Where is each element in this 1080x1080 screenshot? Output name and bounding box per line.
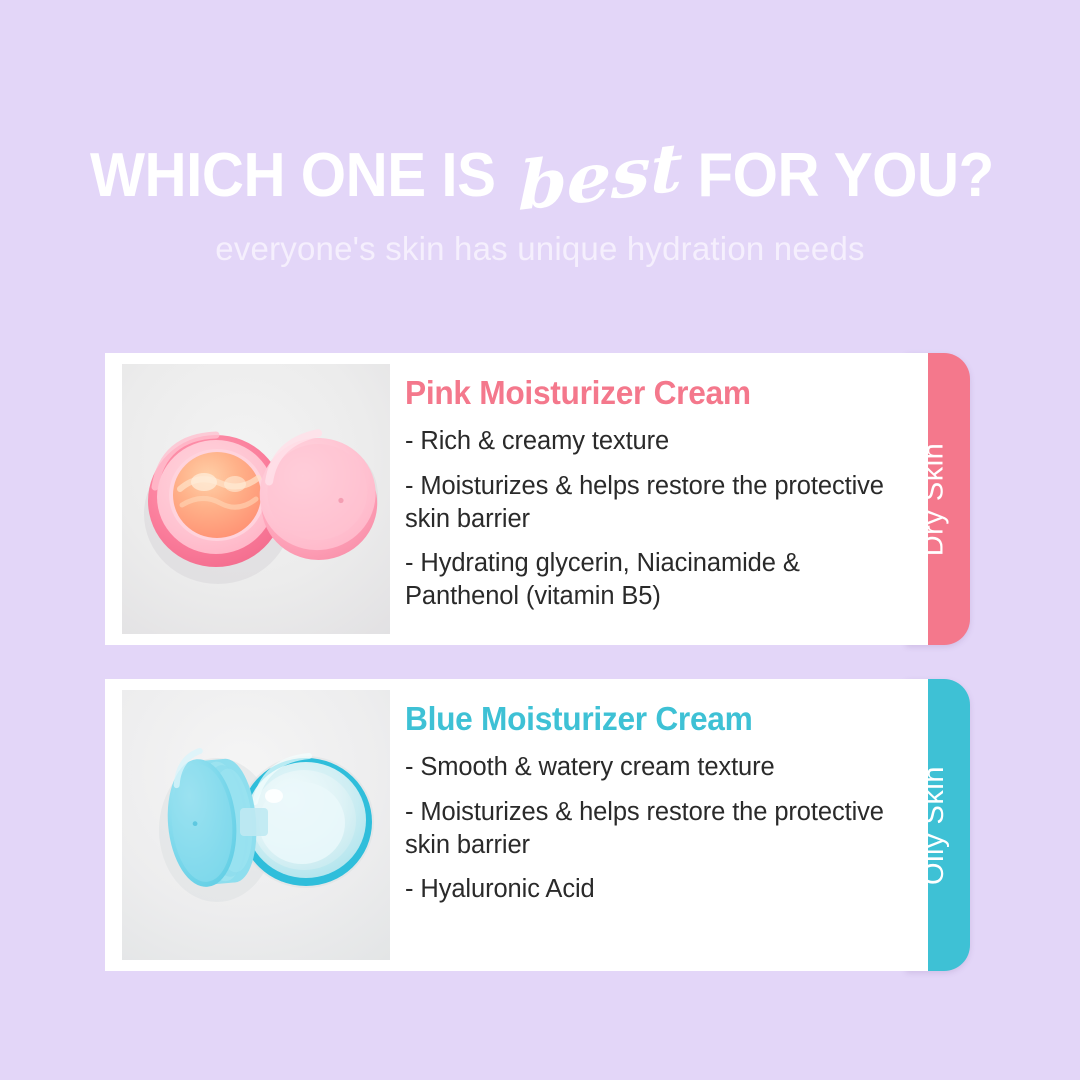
headline-script-word: best xyxy=(518,133,683,220)
product-feature: - Moisturizes & helps restore the protec… xyxy=(405,470,910,535)
product-feature: - Hyaluronic Acid xyxy=(405,873,910,906)
headline-pre-text: WHICH ONE IS xyxy=(90,145,496,207)
product-title-blue: Blue Moisturizer Cream xyxy=(405,701,890,737)
product-title-pink: Pink Moisturizer Cream xyxy=(405,375,890,411)
page-title: WHICH ONE ISbestFOR YOU? xyxy=(0,140,1080,207)
headline-post-text: FOR YOU? xyxy=(697,145,993,207)
product-feature: - Moisturizes & helps restore the protec… xyxy=(405,796,910,861)
product-card-pink-text: Pink Moisturizer Cream - Rich & creamy t… xyxy=(405,367,910,612)
product-feature: - Smooth & watery cream texture xyxy=(405,751,910,784)
product-card-blue[interactable]: Oily Skin xyxy=(105,679,970,971)
header: WHICH ONE ISbestFOR YOU? everyone's skin… xyxy=(0,0,1080,330)
pink-jar-photo-graphic xyxy=(122,364,390,634)
product-card-pink-body: Pink Moisturizer Cream - Rich & creamy t… xyxy=(105,353,928,645)
product-feature: - Rich & creamy texture xyxy=(405,425,910,458)
blue-jar-photo-graphic xyxy=(122,690,390,960)
page-subtitle: everyone's skin has unique hydration nee… xyxy=(0,230,1080,268)
product-feature: - Hydrating glycerin, Niacinamide & Pant… xyxy=(405,547,910,612)
product-card-blue-body: Blue Moisturizer Cream - Smooth & watery… xyxy=(105,679,928,971)
product-card-pink[interactable]: Dry Skin xyxy=(105,353,970,645)
product-card-blue-text: Blue Moisturizer Cream - Smooth & watery… xyxy=(405,693,910,906)
product-image-pink xyxy=(122,364,390,634)
product-image-blue xyxy=(122,690,390,960)
